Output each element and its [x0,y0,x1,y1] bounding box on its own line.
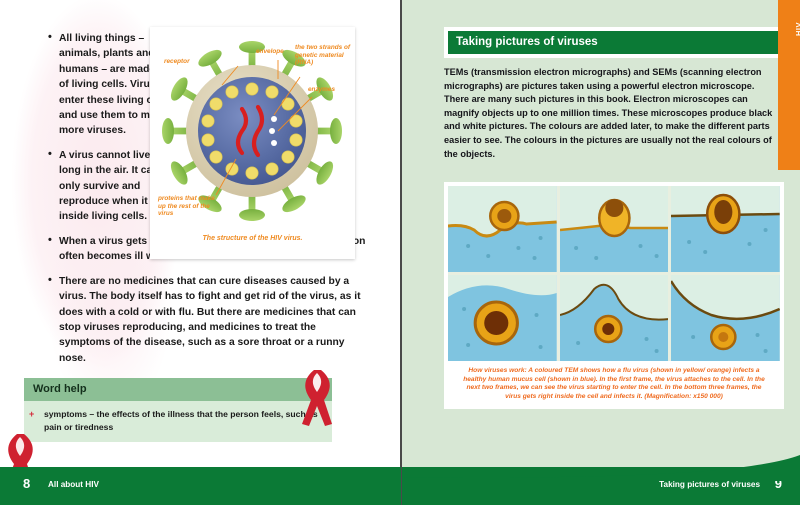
page-number-left: 8 [23,476,30,491]
word-help-box: Word help + symptoms – the effects of th… [24,378,332,442]
left-page-footer: 8 All about HIV [0,467,401,505]
running-head-right: Taking pictures of viruses [659,480,760,489]
label-envelope: envelope [256,48,284,56]
bold-term-symptoms: symptoms [59,337,111,348]
aids-ribbon-icon [293,368,341,430]
tem-panel [448,275,557,361]
book-spread: All living things – animals, plants and … [0,0,800,505]
section-header: Taking pictures of viruses [444,27,782,58]
label-receptor: receptor [164,58,190,66]
tem-panel [448,186,557,272]
section-title: Taking pictures of viruses [448,31,778,54]
plus-bullet-icon: + [29,408,34,421]
tem-panel [560,186,669,272]
bullet-item: There are no medicines that can cure dis… [47,274,367,366]
word-help-entry: symptoms – the effects of the illness th… [33,408,323,433]
tem-panel [560,275,669,361]
section-body-text: TEMs (transmission electron micrographs)… [444,66,776,161]
word-help-body: + symptoms – the effects of the illness … [24,401,332,442]
word-help-term: symptoms [44,409,87,419]
hiv-structure-diagram: receptor envelope the two strands of gen… [150,27,355,259]
right-page: Taking pictures of viruses TEMs (transmi… [402,0,800,505]
figure-caption: How viruses work: A coloured TEM shows h… [448,361,780,409]
tem-panel [671,275,780,361]
word-help-title: Word help [24,378,332,401]
footer-curve-decoration [402,455,800,481]
bullet-text: There are no medicines that can cure dis… [59,276,361,333]
tem-panel [671,186,780,272]
tem-figure: How viruses work: A coloured TEM shows h… [444,182,784,409]
diagram-caption: The structure of the HIV virus. [150,235,355,242]
hiv-side-tab[interactable]: HIV [778,0,800,170]
tem-panel-grid [448,186,780,361]
label-enzymes: enzymes [308,86,335,94]
hiv-side-tab-label: HIV [794,22,800,36]
label-proteins: proteins that make up the rest of the vi… [158,195,224,218]
running-head-left: All about HIV [48,480,99,489]
label-rna: the two strands of genetic material (RNA… [295,44,353,67]
left-page: All living things – animals, plants and … [0,0,401,505]
